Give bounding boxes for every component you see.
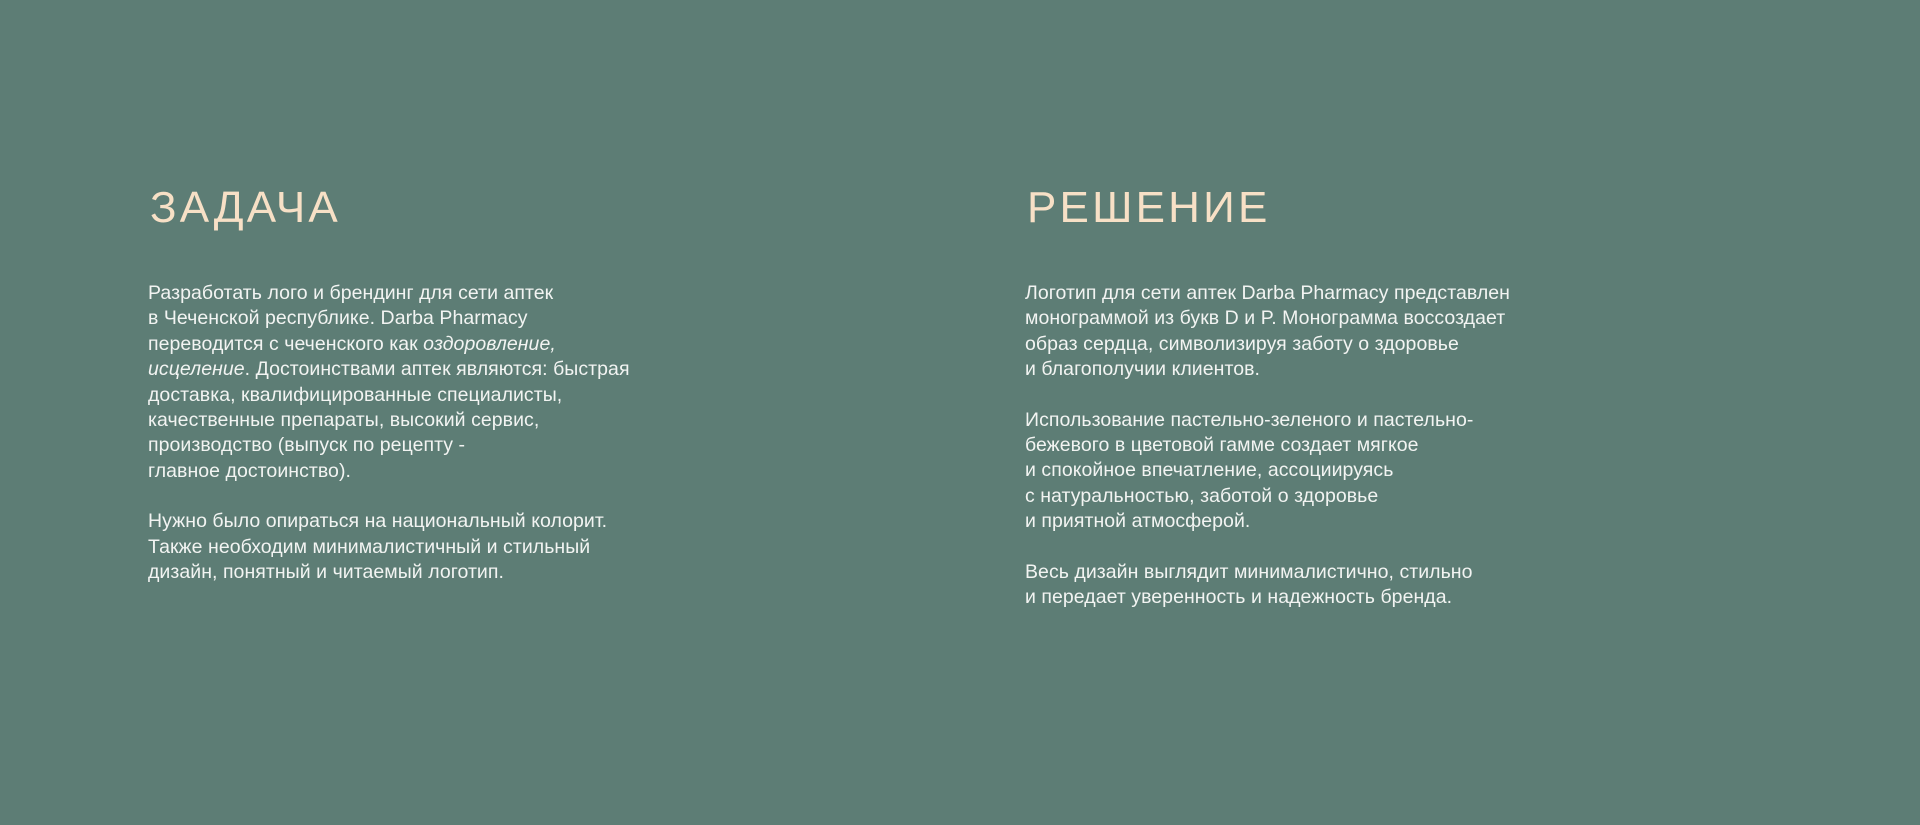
text-line: Разработать лого и брендинг для сети апт… [148, 281, 808, 306]
text-line: монограммой из букв D и P. Монограмма во… [1025, 306, 1705, 331]
emphasis-text: исцеление [148, 358, 245, 380]
text-line: и спокойное впечатление, ассоциируясь [1025, 458, 1705, 483]
body-text: монограммой из букв D и P. Монограмма во… [1025, 307, 1505, 329]
text-line: бежевого в цветовой гамме создает мягкое [1025, 433, 1705, 458]
two-column-layout: ЗАДАЧА Разработать лого и брендинг для с… [0, 0, 1920, 825]
text-line: с натуральностью, заботой о здоровье [1025, 484, 1705, 509]
paragraph: Весь дизайн выглядит минималистично, сти… [1025, 560, 1705, 611]
text-line: и передает уверенность и надежность брен… [1025, 585, 1705, 610]
text-line: Нужно было опираться на национальный кол… [148, 509, 808, 534]
column-task: ЗАДАЧА Разработать лого и брендинг для с… [148, 0, 808, 585]
text-line: качественные препараты, высокий сервис, [148, 408, 808, 433]
text-line: доставка, квалифицированные специалисты, [148, 383, 808, 408]
text-line: Весь дизайн выглядит минималистично, сти… [1025, 560, 1705, 585]
body-text: с натуральностью, заботой о здоровье [1025, 485, 1378, 507]
body-text: Использование пастельно-зеленого и пасте… [1025, 409, 1473, 431]
text-line: производство (выпуск по рецепту - [148, 433, 808, 458]
body-text: и благополучии клиентов. [1025, 358, 1260, 380]
body-text: переводится с чеченского как [148, 333, 423, 355]
body-text: в Чеченской республике. Darba Pharmacy [148, 307, 528, 329]
body-text: главное достоинство). [148, 460, 351, 482]
text-line: образ сердца, символизируя заботу о здор… [1025, 332, 1705, 357]
column-solution: РЕШЕНИЕ Логотип для сети аптек Darba Pha… [1025, 0, 1705, 610]
body-text: производство (выпуск по рецепту - [148, 434, 465, 456]
text-line: и приятной атмосферой. [1025, 509, 1705, 534]
paragraph: Логотип для сети аптек Darba Pharmacy пр… [1025, 281, 1705, 383]
body-text: бежевого в цветовой гамме создает мягкое [1025, 434, 1419, 456]
body-text: Также необходим минималистичный и стильн… [148, 536, 590, 558]
body-text: качественные препараты, высокий сервис, [148, 409, 539, 431]
paragraph: Нужно было опираться на национальный кол… [148, 509, 808, 585]
body-text: Весь дизайн выглядит минималистично, сти… [1025, 561, 1473, 583]
solution-body: Логотип для сети аптек Darba Pharmacy пр… [1025, 281, 1705, 610]
text-line: главное достоинство). [148, 459, 808, 484]
body-text: Логотип для сети аптек Darba Pharmacy пр… [1025, 282, 1510, 304]
text-line: Также необходим минималистичный и стильн… [148, 535, 808, 560]
text-line: дизайн, понятный и читаемый логотип. [148, 560, 808, 585]
page-title-task: ЗАДАЧА [150, 186, 808, 230]
paragraph: Использование пастельно-зеленого и пасте… [1025, 408, 1705, 535]
slide-root: ЗАДАЧА Разработать лого и брендинг для с… [0, 0, 1920, 825]
body-text: . Достоинствами аптек являются: быстрая [245, 358, 630, 380]
body-text: и спокойное впечатление, ассоциируясь [1025, 459, 1393, 481]
body-text: Нужно было опираться на национальный кол… [148, 510, 607, 532]
text-line: исцеление. Достоинствами аптек являются:… [148, 357, 808, 382]
body-text: дизайн, понятный и читаемый логотип. [148, 561, 504, 583]
text-line: в Чеченской республике. Darba Pharmacy [148, 306, 808, 331]
body-text: и передает уверенность и надежность брен… [1025, 586, 1452, 608]
paragraph: Разработать лого и брендинг для сети апт… [148, 281, 808, 484]
text-line: и благополучии клиентов. [1025, 357, 1705, 382]
page-title-solution: РЕШЕНИЕ [1027, 186, 1705, 230]
body-text: образ сердца, символизируя заботу о здор… [1025, 333, 1459, 355]
body-text: доставка, квалифицированные специалисты, [148, 384, 562, 406]
body-text: Разработать лого и брендинг для сети апт… [148, 282, 553, 304]
text-line: переводится с чеченского как оздоровлени… [148, 332, 808, 357]
text-line: Логотип для сети аптек Darba Pharmacy пр… [1025, 281, 1705, 306]
task-body: Разработать лого и брендинг для сети апт… [148, 281, 808, 585]
body-text: и приятной атмосферой. [1025, 510, 1250, 532]
emphasis-text: оздоровление, [423, 333, 556, 355]
text-line: Использование пастельно-зеленого и пасте… [1025, 408, 1705, 433]
